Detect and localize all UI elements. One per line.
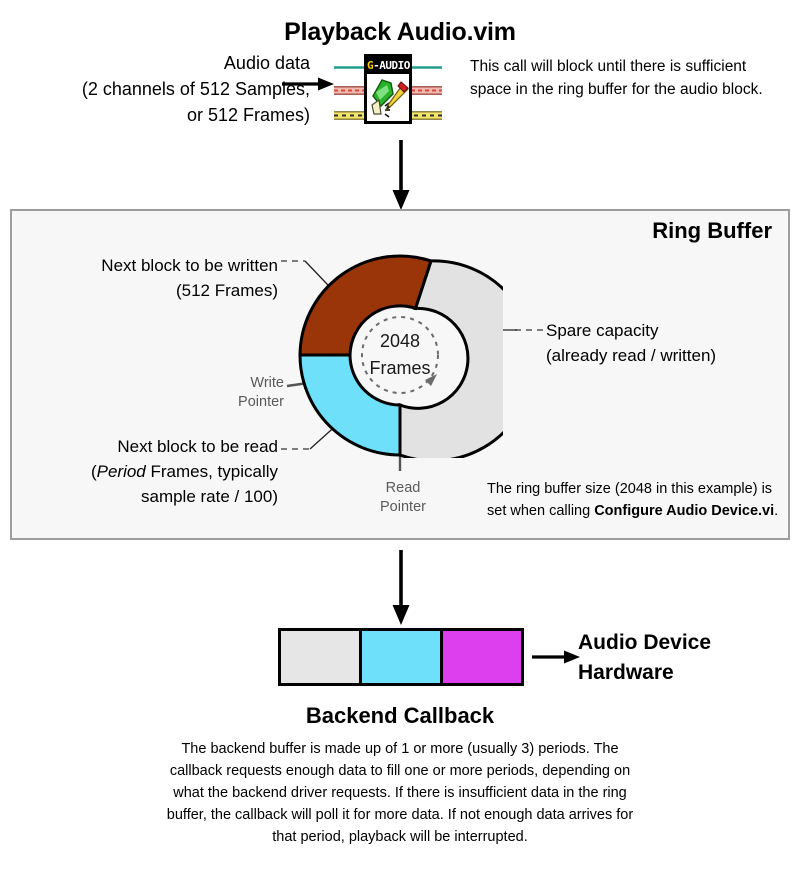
next-block-written-line1: Next block to be written	[10, 253, 278, 278]
write-pointer-label: Write Pointer	[206, 374, 284, 412]
next-block-read-line1: Next block to be read	[10, 434, 278, 459]
hardware-label-line2: Hardware	[578, 658, 798, 688]
vi-icon-graphic	[367, 74, 409, 121]
arrow-to-backend-icon	[386, 550, 416, 625]
write-pointer-line2: Pointer	[206, 393, 284, 412]
audio-data-arrow-icon	[282, 77, 334, 91]
vi-icon-header-rest: -AUDIO	[373, 59, 410, 72]
audio-data-caption-line2: (2 channels of 512 Samples,	[10, 76, 310, 102]
spare-capacity-line1: Spare capacity	[546, 318, 786, 343]
block-note-text: This call will block until there is suff…	[470, 55, 770, 101]
backend-segment-spare	[281, 631, 359, 683]
read-pointer-label: Read Pointer	[355, 479, 451, 517]
next-block-written-callout: Next block to be written (512 Frames)	[10, 253, 278, 303]
arrow-to-ring-buffer-icon	[386, 140, 416, 210]
backend-segment-read	[359, 631, 440, 683]
arrow-to-hardware-icon	[532, 650, 580, 664]
next-block-read-callout: Next block to be read (Period Frames, ty…	[10, 434, 278, 509]
next-block-read-line2: (Period Frames, typically	[10, 459, 278, 484]
audio-data-caption-line3: or 512 Frames)	[10, 102, 310, 128]
backend-callback-note: The backend buffer is made up of 1 or mo…	[160, 738, 640, 848]
audio-device-hardware-label: Audio Device Hardware	[578, 628, 798, 688]
audio-data-caption: Audio data (2 channels of 512 Samples, o…	[10, 50, 310, 128]
config-note-post: .	[774, 503, 778, 519]
read-pointer-line2: Pointer	[355, 498, 451, 517]
read-line2-post: Frames, typically	[146, 462, 278, 481]
ring-buffer-center-value: 2048	[380, 328, 420, 355]
ring-buffer-config-note: The ring buffer size (2048 in this examp…	[487, 478, 779, 522]
backend-segment-written	[440, 631, 521, 683]
spare-capacity-callout: Spare capacity (already read / written)	[546, 318, 786, 368]
next-block-read-line3: sample rate / 100)	[10, 484, 278, 509]
backend-buffer	[278, 628, 524, 686]
vi-icon-body[interactable]: G-AUDIO	[364, 54, 412, 124]
backend-callback-heading: Backend Callback	[0, 703, 800, 729]
write-pointer-line1: Write	[206, 374, 284, 393]
ring-buffer-center-unit: Frames	[369, 355, 430, 382]
ring-buffer-center-label: 2048 Frames	[297, 252, 503, 458]
g-audio-vi-icon[interactable]: G-AUDIO	[334, 54, 442, 124]
config-note-vi-name: Configure Audio Device.vi	[594, 503, 774, 519]
next-block-written-line2: (512 Frames)	[10, 278, 278, 303]
read-line2-emphasis: Period	[97, 462, 146, 481]
spare-capacity-line2: (already read / written)	[546, 343, 786, 368]
vi-icon-header-label: G-AUDIO	[367, 57, 409, 74]
read-pointer-line1: Read	[355, 479, 451, 498]
hardware-label-line1: Audio Device	[578, 628, 798, 658]
page-title: Playback Audio.vim	[0, 18, 800, 47]
audio-data-caption-line1: Audio data	[10, 50, 310, 76]
